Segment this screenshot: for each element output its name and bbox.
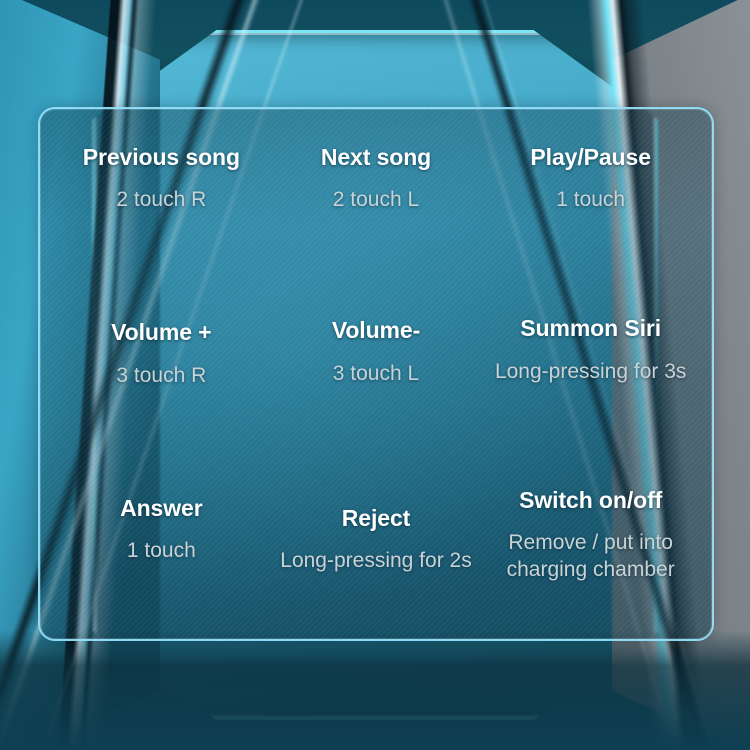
- gesture-title: Previous song: [83, 145, 240, 170]
- gesture-title: Volume +: [111, 320, 211, 345]
- gesture-cell-answer[interactable]: Answer 1 touch: [54, 458, 269, 621]
- gesture-grid: Previous song 2 touch R Next song 2 touc…: [40, 109, 712, 639]
- gesture-cell-switch-on-off[interactable]: Switch on/off Remove / put into charging…: [483, 458, 698, 621]
- gesture-cell-reject[interactable]: Reject Long-pressing for 2s: [269, 458, 484, 621]
- gesture-cell-play-pause[interactable]: Play/Pause 1 touch: [483, 131, 698, 294]
- gesture-cell-summon-siri[interactable]: Summon Siri Long-pressing for 3s: [483, 294, 698, 457]
- gesture-cell-next-song[interactable]: Next song 2 touch L: [269, 131, 484, 294]
- gesture-action: 2 touch R: [116, 187, 206, 214]
- gesture-title: Reject: [342, 506, 410, 531]
- gesture-action: Long-pressing for 2s: [280, 548, 471, 575]
- gesture-action: 1 touch: [556, 187, 625, 214]
- gesture-action: 3 touch R: [116, 363, 206, 390]
- gesture-cell-volume-up[interactable]: Volume + 3 touch R: [54, 294, 269, 457]
- gesture-cell-previous-song[interactable]: Previous song 2 touch R: [54, 131, 269, 294]
- gesture-action: 1 touch: [127, 538, 196, 565]
- gesture-title: Summon Siri: [520, 316, 661, 341]
- gesture-action: 2 touch L: [333, 187, 419, 214]
- gesture-title: Switch on/off: [519, 488, 662, 513]
- gesture-action: Long-pressing for 3s: [495, 359, 686, 386]
- gesture-action: Remove / put into charging chamber: [483, 530, 698, 584]
- product-gesture-infographic: Previous song 2 touch R Next song 2 touc…: [0, 0, 750, 750]
- gesture-cell-volume-down[interactable]: Volume- 3 touch L: [269, 294, 484, 457]
- gesture-title: Next song: [321, 145, 431, 170]
- gesture-title: Play/Pause: [530, 145, 650, 170]
- gesture-guide-panel: Previous song 2 touch R Next song 2 touc…: [38, 107, 714, 641]
- gesture-action: 3 touch L: [333, 361, 419, 388]
- gesture-title: Volume-: [332, 318, 420, 343]
- gesture-title: Answer: [120, 496, 202, 521]
